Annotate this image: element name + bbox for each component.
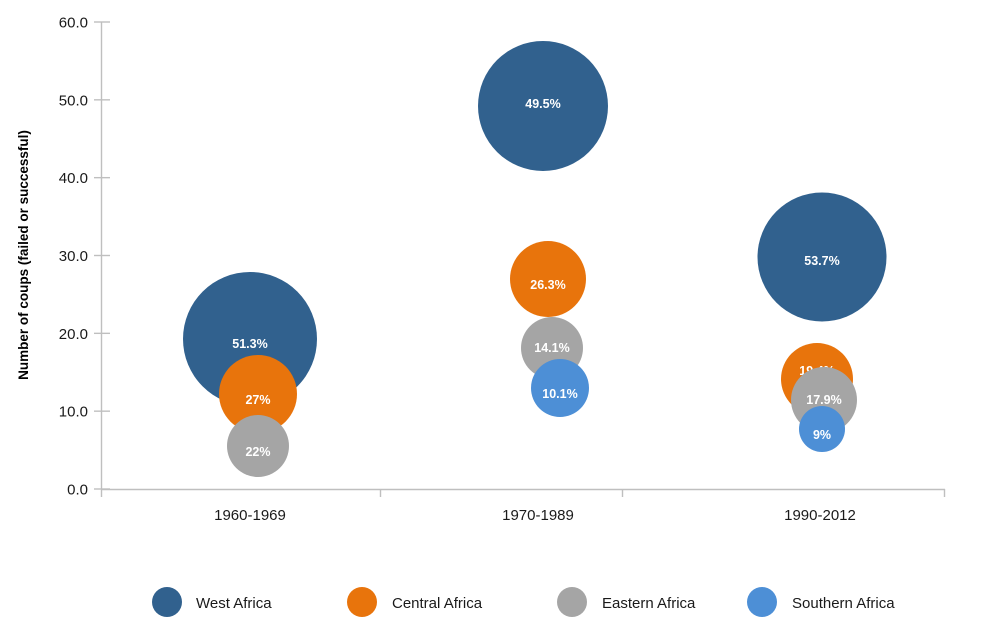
y-axis: 60.050.040.030.020.010.00.0 — [59, 15, 110, 499]
bubble[interactable]: 9% — [799, 406, 845, 452]
bubble-value-label: 14.1% — [534, 341, 569, 355]
bubble-value-label: 17.9% — [806, 393, 841, 407]
y-tick-label: 10.0 — [59, 404, 88, 421]
y-axis-title-text: Number of coups (failed or successful) — [16, 130, 31, 380]
y-axis-title: Number of coups (failed or successful) — [16, 130, 31, 380]
legend-item[interactable]: Central Africa — [347, 587, 483, 617]
chart-canvas: Number of coups (failed or successful) 6… — [0, 0, 1007, 623]
bubble-value-label: 27% — [245, 393, 270, 407]
bubble-value-label: 53.7% — [804, 254, 839, 268]
x-tick-label: 1960-1969 — [214, 507, 286, 524]
x-tick-label: 1990-2012 — [784, 507, 856, 524]
x-tick-label: 1970-1989 — [502, 507, 574, 524]
bubble-value-label: 22% — [245, 445, 270, 459]
y-tick-label: 30.0 — [59, 248, 88, 265]
bubble[interactable]: 49.5% — [478, 41, 608, 171]
legend-item[interactable]: Eastern Africa — [557, 587, 696, 617]
bubble-value-label: 26.3% — [530, 278, 565, 292]
y-tick-label: 60.0 — [59, 15, 88, 32]
bubble[interactable]: 53.7% — [758, 193, 887, 322]
legend-item-label: West Africa — [196, 595, 272, 612]
legend-swatch-icon — [347, 587, 377, 617]
bubble-value-label: 9% — [813, 428, 831, 442]
x-tick-label-group: 1960-19691970-19891990-2012 — [214, 507, 856, 524]
legend-swatch-icon — [152, 587, 182, 617]
legend-item-label: Eastern Africa — [602, 595, 696, 612]
bubble[interactable]: 10.1% — [531, 359, 589, 417]
bubble-value-label: 10.1% — [542, 387, 577, 401]
bubble[interactable]: 22% — [227, 415, 289, 477]
y-tick-group: 60.050.040.030.020.010.00.0 — [59, 15, 110, 499]
legend-item-label: Southern Africa — [792, 595, 895, 612]
y-tick-label: 40.0 — [59, 170, 88, 187]
bubble-series-group: 51.3%27%22%49.5%26.3%14.1%10.1%53.7%19.4… — [183, 41, 887, 477]
y-tick-label: 0.0 — [67, 482, 88, 499]
legend-item[interactable]: Southern Africa — [747, 587, 895, 617]
legend-swatch-icon — [557, 587, 587, 617]
chart-legend: West AfricaCentral AfricaEastern AfricaS… — [152, 587, 895, 617]
x-axis: 1960-19691970-19891990-2012 — [101, 489, 945, 524]
bubble[interactable]: 26.3% — [510, 241, 586, 317]
legend-item-label: Central Africa — [392, 595, 483, 612]
y-tick-label: 20.0 — [59, 326, 88, 343]
bubble-value-label: 51.3% — [232, 337, 267, 351]
y-tick-label: 50.0 — [59, 92, 88, 109]
legend-item[interactable]: West Africa — [152, 587, 272, 617]
bubble-value-label: 49.5% — [525, 97, 560, 111]
bubble-chart: Number of coups (failed or successful) 6… — [0, 0, 1007, 623]
legend-swatch-icon — [747, 587, 777, 617]
